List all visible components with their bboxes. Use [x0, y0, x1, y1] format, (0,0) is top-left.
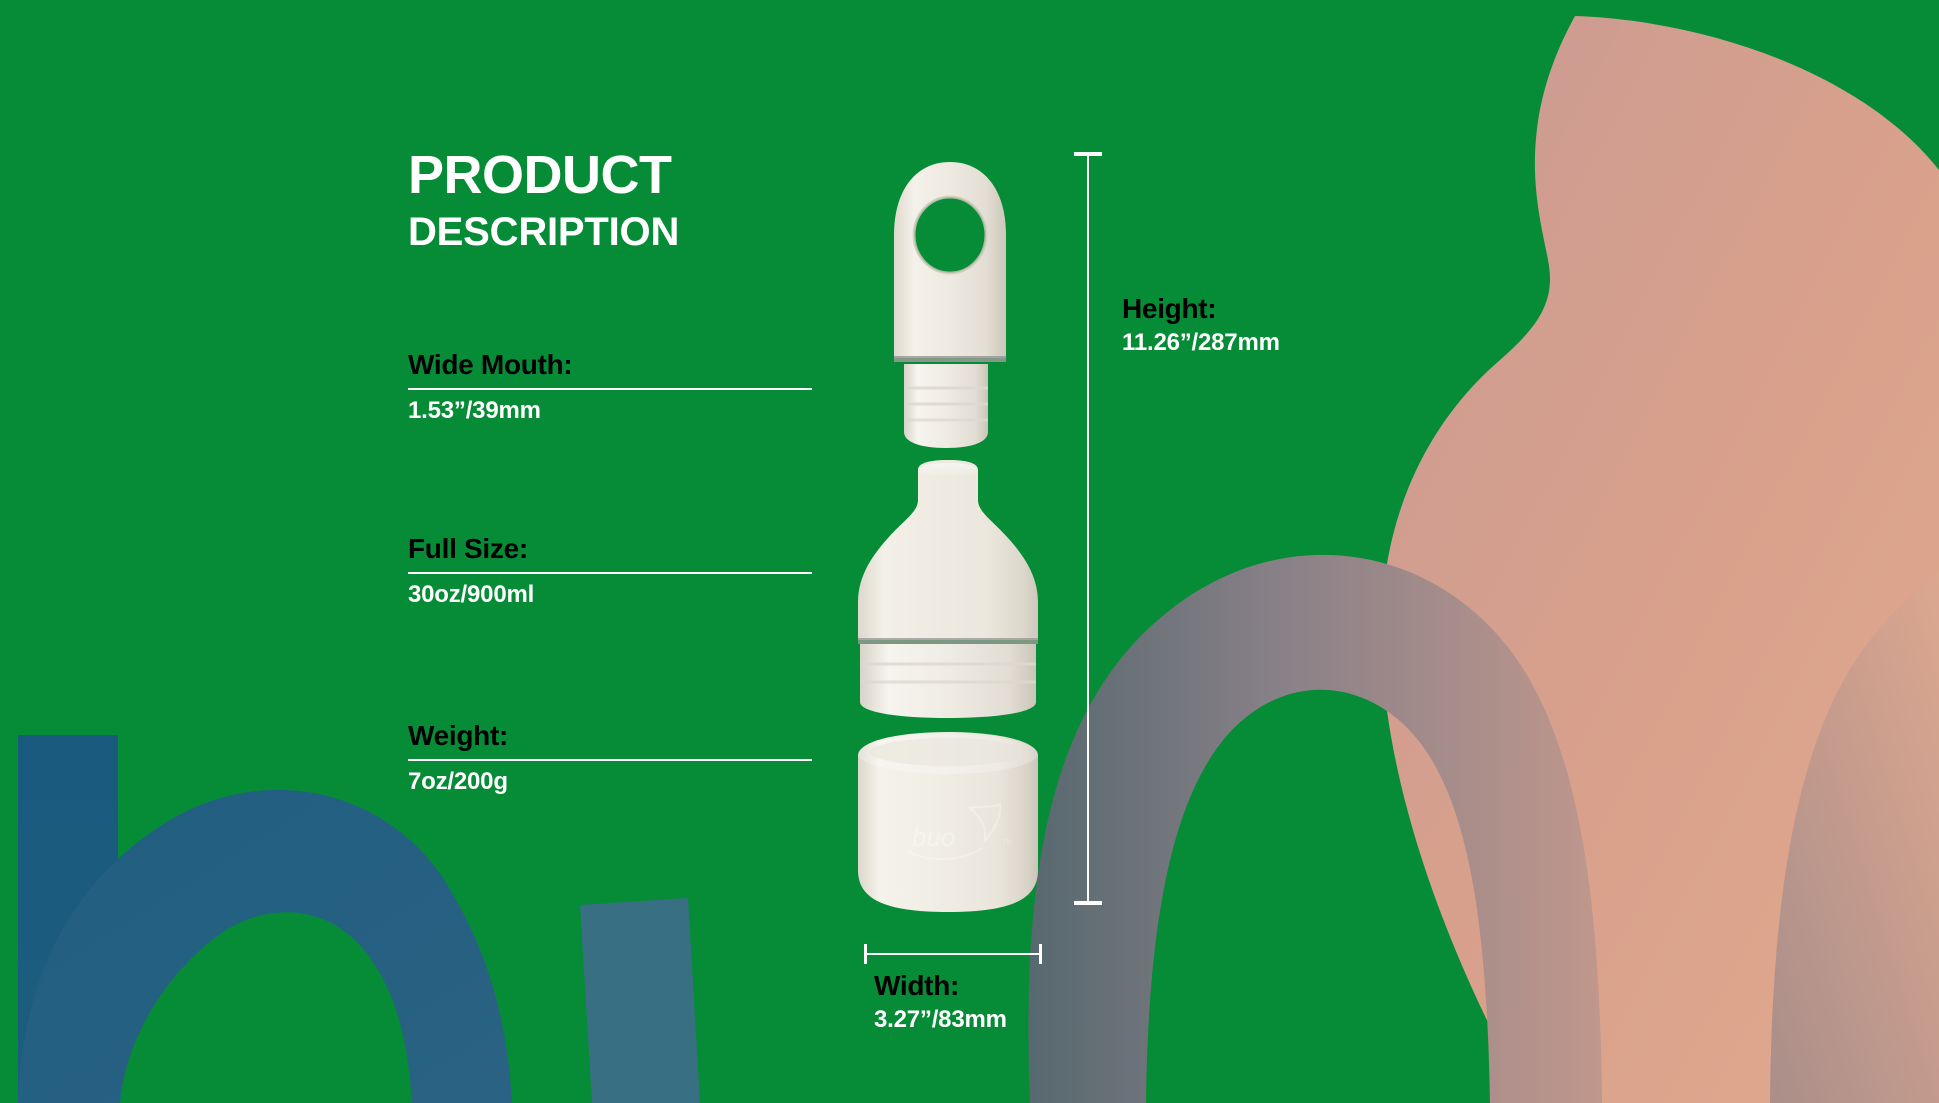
bottle-threaded-neck — [904, 364, 988, 448]
spec-value: 1.53”/39mm — [408, 397, 812, 425]
bottle-body-section: buo ™ — [858, 732, 1038, 912]
spec-divider — [408, 572, 812, 574]
spec-label: Wide Mouth: — [408, 350, 812, 381]
spec-item-full-size: Full Size: 30oz/900ml — [408, 534, 812, 609]
spec-value: 30oz/900ml — [408, 581, 812, 609]
spec-divider — [408, 759, 812, 761]
title-line-primary: PRODUCT — [408, 148, 679, 202]
dimension-value: 11.26”/287mm — [1122, 329, 1280, 357]
page-title: PRODUCT DESCRIPTION — [408, 148, 679, 252]
svg-text:buo: buo — [912, 822, 955, 852]
infographic-canvas: PRODUCT DESCRIPTION Wide Mouth: 1.53”/39… — [0, 0, 1939, 1103]
dimension-cap-left — [864, 944, 867, 964]
dimension-cap-bottom — [1074, 901, 1102, 905]
dimension-label: Width: — [874, 970, 1007, 1002]
bottle-shoulder-section — [858, 460, 1038, 718]
product-image-water-bottle: buo ™ — [842, 140, 1082, 915]
height-dimension-label: Height: 11.26”/287mm — [1122, 293, 1280, 357]
spec-divider — [408, 388, 812, 390]
spec-item-wide-mouth: Wide Mouth: 1.53”/39mm — [408, 350, 812, 425]
width-dimension-line — [864, 953, 1042, 955]
svg-text:™: ™ — [1002, 838, 1012, 849]
spec-label: Weight: — [408, 721, 812, 752]
bottle-cap-with-loop — [894, 162, 1006, 362]
height-dimension-line — [1087, 152, 1089, 905]
spec-value: 7oz/200g — [408, 768, 812, 796]
dimension-value: 3.27”/83mm — [874, 1006, 1007, 1034]
width-dimension-label: Width: 3.27”/83mm — [874, 970, 1007, 1034]
dimension-cap-top — [1074, 152, 1102, 156]
dimension-cap-right — [1039, 944, 1042, 964]
spec-label: Full Size: — [408, 534, 812, 565]
spec-item-weight: Weight: 7oz/200g — [408, 721, 812, 796]
dimension-label: Height: — [1122, 293, 1280, 325]
title-line-secondary: DESCRIPTION — [408, 212, 679, 252]
